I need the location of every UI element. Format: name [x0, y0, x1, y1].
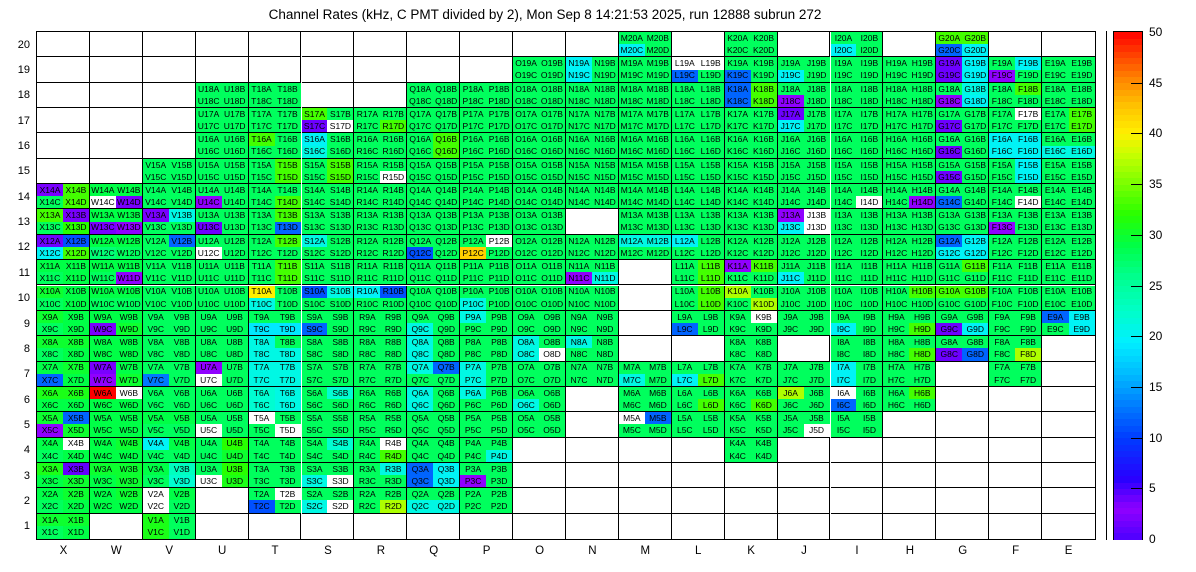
channel-quadrant: X9C	[37, 323, 63, 335]
channel-quadrant: Q5C	[407, 424, 433, 436]
cell-quadrant-row: T9AT9B	[249, 311, 301, 323]
cell-quadrant-row: O13AO13B	[513, 209, 565, 221]
cell-quadrant-row: Q14AQ14B	[407, 184, 459, 196]
channel-quadrant: T4A	[249, 438, 275, 450]
cell-quadrant-row: P13CP13D	[460, 222, 512, 234]
channel-quadrant: H11A	[883, 260, 909, 272]
cell-quadrant-row: P17AP17B	[460, 108, 512, 120]
cell-quadrant-row: V7CV7D	[143, 374, 195, 386]
channel-quadrant: U11B	[222, 260, 248, 272]
channel-quadrant: U8B	[222, 336, 248, 348]
heatmap-cell: N15AN15BN15CN15D	[566, 159, 619, 184]
channel-quadrant: Q2C	[407, 500, 433, 512]
channel-quadrant: T15A	[249, 159, 275, 171]
channel-quadrant: I8D	[856, 348, 882, 360]
cell-quadrant-row: F13AF13B	[989, 209, 1041, 221]
heatmap-cell: P14AP14BP14CP14D	[460, 184, 513, 209]
channel-quadrant: Q10B	[433, 286, 459, 298]
cell-quadrant-row: V15CV15D	[143, 171, 195, 183]
channel-quadrant: G15C	[936, 171, 962, 183]
channel-quadrant: M20C	[619, 44, 645, 56]
color-scale-tick-mark	[1131, 438, 1143, 439]
channel-quadrant: W4D	[116, 450, 142, 462]
channel-quadrant: K18A	[725, 83, 751, 95]
channel-quadrant: T12B	[275, 235, 301, 247]
cell-quadrant-row: E17CE17D	[1042, 120, 1095, 132]
heatmap-cell: V4AV4BV4CV4D	[143, 438, 196, 463]
channel-quadrant: U5B	[222, 412, 248, 424]
heatmap-cell-empty	[672, 336, 725, 361]
heatmap-cell: T15AT15BT15CT15D	[249, 159, 302, 184]
cell-quadrant-row: Q3CQ3D	[407, 475, 459, 487]
channel-quadrant: W3C	[90, 475, 116, 487]
cell-quadrant-row: H14AH14B	[883, 184, 935, 196]
cell-quadrant-row: P15AP15B	[460, 159, 512, 171]
channel-quadrant: S2B	[327, 488, 353, 500]
channel-quadrant: S16B	[327, 133, 353, 145]
cell-quadrant-row: R15CR15D	[354, 171, 406, 183]
channel-quadrant: W3B	[116, 463, 142, 475]
cell-quadrant-row: K17AK17B	[725, 108, 777, 120]
channel-quadrant: O18A	[513, 83, 539, 95]
channel-quadrant: N19C	[566, 70, 592, 82]
cell-quadrant-row: R13CR13D	[354, 222, 406, 234]
channel-quadrant: R9A	[354, 311, 380, 323]
channel-quadrant: T5A	[249, 412, 275, 424]
channel-quadrant: P18B	[486, 83, 512, 95]
channel-quadrant: L17B	[698, 108, 724, 120]
heatmap-cell-empty	[90, 133, 143, 158]
cell-quadrant-row: N9AN9B	[566, 311, 618, 323]
channel-quadrant: S10C	[302, 298, 328, 310]
cell-quadrant-row: J18CJ18D	[778, 95, 830, 107]
channel-quadrant: T10A	[249, 286, 275, 298]
channel-quadrant: S11B	[327, 260, 353, 272]
channel-quadrant: V10D	[169, 298, 195, 310]
heatmap-cell: M6AM6BM6CM6D	[619, 387, 672, 412]
heatmap-cell-empty	[672, 438, 725, 463]
channel-quadrant: S4A	[302, 438, 328, 450]
channel-quadrant: L12A	[672, 235, 698, 247]
cell-quadrant-row: F18AF18B	[989, 83, 1041, 95]
cell-quadrant-row: M16AM16B	[619, 133, 671, 145]
y-axis-tick: 17	[2, 115, 30, 127]
cell-quadrant-row: G8CG8D	[936, 348, 988, 360]
cell-quadrant-row: V13CV13D	[143, 222, 195, 234]
heatmap-cell: S2AS2BS2CS2D	[302, 488, 355, 513]
heatmap-cell: E16AE16BE16CE16D	[1042, 133, 1095, 158]
cell-quadrant-row: X4CX4D	[37, 450, 89, 462]
channel-quadrant: M20B	[645, 32, 671, 44]
heatmap-cell-empty	[513, 32, 566, 57]
channel-quadrant: F16A	[989, 133, 1015, 145]
heatmap-cell: V5AV5BV5CV5D	[143, 412, 196, 437]
channel-quadrant: S15C	[302, 171, 328, 183]
channel-quadrant: L11B	[698, 260, 724, 272]
cell-quadrant-row: J10AJ10B	[778, 286, 830, 298]
channel-quadrant: J12D	[804, 247, 830, 259]
heatmap-cell: Q17AQ17BQ17CQ17D	[407, 108, 460, 133]
cell-quadrant-row: R3AR3B	[354, 463, 406, 475]
channel-quadrant: O19C	[513, 70, 539, 82]
cell-quadrant-row: H18CH18D	[883, 95, 935, 107]
channel-quadrant: P8B	[486, 336, 512, 348]
channel-quadrant: T6A	[249, 387, 275, 399]
channel-quadrant: K9B	[751, 311, 777, 323]
heatmap-cell: V11AV11BV11CV11D	[143, 260, 196, 285]
channel-quadrant: T8B	[275, 336, 301, 348]
heatmap-cell: L7AL7BL7CL7D	[672, 362, 725, 387]
cell-quadrant-row: H19CH19D	[883, 70, 935, 82]
channel-quadrant: Q3D	[433, 475, 459, 487]
channel-quadrant: J10D	[804, 298, 830, 310]
channel-quadrant: G11A	[936, 260, 962, 272]
channel-quadrant: H18D	[909, 95, 935, 107]
channel-quadrant: V10C	[143, 298, 169, 310]
heatmap-cell: X8AX8BX8CX8D	[37, 336, 90, 361]
channel-quadrant: G18B	[962, 83, 988, 95]
channel-quadrant: R4D	[380, 450, 406, 462]
channel-quadrant: U12B	[222, 235, 248, 247]
channel-quadrant: V10A	[143, 286, 169, 298]
channel-quadrant: P9A	[460, 311, 486, 323]
channel-quadrant: T18C	[249, 95, 275, 107]
cell-quadrant-row: W12CW12D	[90, 247, 142, 259]
channel-quadrant: N17C	[566, 120, 592, 132]
cell-quadrant-row: M20AM20B	[619, 32, 671, 44]
channel-quadrant: O14C	[513, 196, 539, 208]
cell-quadrant-row: Q15CQ15D	[407, 171, 459, 183]
channel-quadrant: V1D	[169, 526, 195, 539]
channel-quadrant: K17D	[751, 120, 777, 132]
cell-quadrant-row: N7AN7B	[566, 362, 618, 374]
cell-quadrant-row: G15AG15B	[936, 159, 988, 171]
channel-quadrant: I5B	[856, 412, 882, 424]
cell-quadrant-row: T10CT10D	[249, 298, 301, 310]
cell-quadrant-row: N12CN12D	[566, 247, 618, 259]
cell-quadrant-row: G17CG17D	[936, 120, 988, 132]
cell-quadrant-row: I5AI5B	[831, 412, 883, 424]
channel-quadrant: R2B	[380, 488, 406, 500]
channel-quadrant: I9B	[856, 311, 882, 323]
cell-quadrant-row: W4AW4B	[90, 438, 142, 450]
cell-quadrant-row: N18AN18B	[566, 83, 618, 95]
channel-quadrant: O18D	[539, 95, 565, 107]
channel-quadrant: E9B	[1069, 311, 1095, 323]
heatmap-cell: T5AT5BT5CT5D	[249, 412, 302, 437]
channel-quadrant: T14B	[275, 184, 301, 196]
channel-quadrant: H6A	[883, 387, 909, 399]
channel-quadrant: J5B	[804, 412, 830, 424]
channel-quadrant: H14C	[883, 196, 909, 208]
cell-quadrant-row: N12AN12B	[566, 235, 618, 247]
heatmap-cell-empty	[619, 463, 672, 488]
heatmap-cell-empty	[196, 57, 249, 82]
heatmap-cell: R14AR14BR14CR14D	[354, 184, 407, 209]
heatmap-cell: K20AK20BK20CK20D	[725, 32, 778, 57]
channel-quadrant: R10A	[354, 286, 380, 298]
channel-quadrant: Q5D	[433, 424, 459, 436]
channel-quadrant: O9C	[513, 323, 539, 335]
cell-quadrant-row: W9CW9D	[90, 323, 142, 335]
cell-quadrant-row: X7CX7D	[37, 374, 89, 386]
channel-quadrant: J9B	[804, 311, 830, 323]
channel-quadrant: O12D	[539, 247, 565, 259]
heatmap-cell-empty	[566, 514, 619, 539]
channel-quadrant: E13C	[1042, 222, 1068, 234]
channel-quadrant: F8D	[1015, 348, 1041, 360]
cell-quadrant-row: E12AE12B	[1042, 235, 1095, 247]
cell-quadrant-row: Q7AQ7B	[407, 362, 459, 374]
cell-quadrant-row: S17CS17D	[302, 120, 354, 132]
heatmap-cell: N17AN17BN17CN17D	[566, 108, 619, 133]
cell-quadrant-row: R7AR7B	[354, 362, 406, 374]
channel-quadrant: R11B	[380, 260, 406, 272]
cell-quadrant-row: O5AO5B	[513, 412, 565, 424]
channel-quadrant: P15A	[460, 159, 486, 171]
channel-quadrant: H19C	[883, 70, 909, 82]
channel-quadrant: N16C	[566, 146, 592, 158]
channel-quadrant: P9D	[486, 323, 512, 335]
channel-quadrant: P4B	[486, 438, 512, 450]
channel-quadrant: H10A	[883, 286, 909, 298]
heatmap-cell: L18AL18BL18CL18D	[672, 83, 725, 108]
cell-quadrant-row: X12AX12B	[37, 235, 89, 247]
color-scale-ticks: 05101520253035404550	[1113, 31, 1193, 540]
cell-quadrant-row: E11CE11D	[1042, 272, 1095, 284]
channel-quadrant: E18D	[1069, 95, 1095, 107]
channel-quadrant: G12B	[962, 235, 988, 247]
channel-quadrant: G12D	[962, 247, 988, 259]
channel-quadrant: P15B	[486, 159, 512, 171]
channel-quadrant: Q4B	[433, 438, 459, 450]
cell-quadrant-row: E14AE14B	[1042, 184, 1095, 196]
channel-quadrant: Q15D	[433, 171, 459, 183]
cell-quadrant-row: U12AU12B	[196, 235, 248, 247]
cell-quadrant-row: W9AW9B	[90, 311, 142, 323]
heatmap-cell-empty	[37, 57, 90, 82]
channel-quadrant: I20B	[856, 32, 882, 44]
cell-quadrant-row: X11AX11B	[37, 260, 89, 272]
heatmap-cell: T18AT18BT18CT18D	[249, 83, 302, 108]
channel-quadrant: I10A	[831, 286, 857, 298]
channel-quadrant: E17C	[1042, 120, 1068, 132]
channel-quadrant: E16B	[1069, 133, 1095, 145]
channel-quadrant: G19C	[936, 70, 962, 82]
cell-quadrant-row: M17AM17B	[619, 108, 671, 120]
channel-quadrant: J17C	[778, 120, 804, 132]
cell-quadrant-row: L5AL5B	[672, 412, 724, 424]
channel-quadrant: W6C	[90, 399, 116, 411]
channel-quadrant: O10B	[539, 286, 565, 298]
cell-quadrant-row: V4AV4B	[143, 438, 195, 450]
channel-quadrant: K9D	[751, 323, 777, 335]
channel-quadrant: I9D	[856, 323, 882, 335]
cell-quadrant-row: N14CN14D	[566, 196, 618, 208]
cell-quadrant-row: R2CR2D	[354, 500, 406, 512]
cell-quadrant-row: F8CF8D	[989, 348, 1041, 360]
heatmap-cell-empty	[672, 32, 725, 57]
cell-quadrant-row: N10CN10D	[566, 298, 618, 310]
channel-quadrant: S6B	[327, 387, 353, 399]
cell-quadrant-row: H15CH15D	[883, 171, 935, 183]
channel-quadrant: X13D	[63, 222, 89, 234]
cell-quadrant-row: H9AH9B	[883, 311, 935, 323]
channel-quadrant: T9C	[249, 323, 275, 335]
cell-quadrant-row: O11AO11B	[513, 260, 565, 272]
y-axis-tick: 6	[2, 394, 30, 406]
heatmap-cell: W11AW11BW11CW11D	[90, 260, 143, 285]
heatmap-cell-empty	[354, 57, 407, 82]
cell-quadrant-row: F17AF17B	[989, 108, 1041, 120]
cell-quadrant-row: P18AP18B	[460, 83, 512, 95]
cell-quadrant-row: Q11AQ11B	[407, 260, 459, 272]
channel-quadrant: J17A	[778, 108, 804, 120]
x-axis-tick: S	[324, 545, 332, 557]
channel-quadrant: H17C	[883, 120, 909, 132]
heatmap-cell: P13AP13BP13CP13D	[460, 209, 513, 234]
channel-quadrant: U17A	[196, 108, 222, 120]
cell-quadrant-row: J7AJ7B	[778, 362, 830, 374]
channel-quadrant: N7A	[566, 362, 592, 374]
channel-quadrant: F18C	[989, 95, 1015, 107]
channel-quadrant: R15B	[380, 159, 406, 171]
channel-quadrant: V14A	[143, 184, 169, 196]
y-axis-tick: 8	[2, 343, 30, 355]
heatmap-cell-empty	[936, 387, 989, 412]
channel-quadrant: G11D	[962, 272, 988, 284]
channel-quadrant: N16D	[592, 146, 618, 158]
channel-quadrant: W10D	[116, 298, 142, 310]
heatmap-cell: S6AS6BS6CS6D	[302, 387, 355, 412]
channel-quadrant: I15A	[831, 159, 857, 171]
channel-quadrant: G13A	[936, 209, 962, 221]
heatmap-cell: P4AP4BP4CP4D	[460, 438, 513, 463]
channel-quadrant: O6D	[539, 399, 565, 411]
heatmap-cell: V10AV10BV10CV10D	[143, 286, 196, 311]
channel-quadrant: X10D	[63, 298, 89, 310]
channel-quadrant: K17B	[751, 108, 777, 120]
channel-quadrant: L17D	[698, 120, 724, 132]
heatmap-cell: E14AE14BE14CE14D	[1042, 184, 1095, 209]
cell-quadrant-row: H16AH16B	[883, 133, 935, 145]
channel-quadrant: O12B	[539, 235, 565, 247]
channel-quadrant: P15D	[486, 171, 512, 183]
channel-quadrant: K18D	[751, 95, 777, 107]
heatmap-cell-empty	[354, 514, 407, 539]
channel-quadrant: U13C	[196, 222, 222, 234]
cell-quadrant-row: Q10AQ10B	[407, 286, 459, 298]
channel-quadrant: I10C	[831, 298, 857, 310]
heatmap-cell-empty	[672, 463, 725, 488]
heatmap-cell-empty	[37, 133, 90, 158]
heatmap-cell: U9AU9BU9CU9D	[196, 311, 249, 336]
heatmap-cell: T13AT13BT13CT13D	[249, 209, 302, 234]
heatmap-cell: W2AW2BW2CW2D	[90, 488, 143, 513]
channel-quadrant: N7D	[592, 374, 618, 386]
channel-quadrant: T16A	[249, 133, 275, 145]
cell-quadrant-row: H19AH19B	[883, 57, 935, 69]
cell-quadrant-row: I10AI10B	[831, 286, 883, 298]
channel-quadrant: S8A	[302, 336, 328, 348]
channel-quadrant: M18A	[619, 83, 645, 95]
channel-quadrant: Q13C	[407, 222, 433, 234]
channel-quadrant: P6D	[486, 399, 512, 411]
cell-quadrant-row: L16CL16D	[672, 146, 724, 158]
channel-quadrant: X8A	[37, 336, 63, 348]
heatmap-cell: S5AS5BS5CS5D	[302, 412, 355, 437]
channel-quadrant: T7C	[249, 374, 275, 386]
channel-quadrant: S17A	[302, 108, 328, 120]
channel-quadrant: J10A	[778, 286, 804, 298]
color-scale-tick-mark	[1131, 387, 1143, 388]
channel-quadrant: W5B	[116, 412, 142, 424]
heatmap-cell: N12AN12BN12CN12D	[566, 235, 619, 260]
x-axis-tick: Q	[429, 545, 438, 557]
channel-quadrant: X10A	[37, 286, 63, 298]
cell-quadrant-row: K5CK5D	[725, 424, 777, 436]
heatmap-cell: H10AH10BH10CH10D	[883, 286, 936, 311]
channel-quadrant: W5C	[90, 424, 116, 436]
channel-quadrant: N15D	[592, 171, 618, 183]
channel-quadrant: L16D	[698, 146, 724, 158]
heatmap-cell: J6AJ6BJ6CJ6D	[778, 387, 831, 412]
channel-quadrant: R6A	[354, 387, 380, 399]
cell-quadrant-row: L13CL13D	[672, 222, 724, 234]
channel-quadrant: O10C	[513, 298, 539, 310]
channel-quadrant: J5D	[804, 424, 830, 436]
channel-quadrant: G14D	[962, 196, 988, 208]
channel-quadrant: I5C	[831, 424, 857, 436]
channel-quadrant: M16C	[619, 146, 645, 158]
cell-quadrant-row: I20AI20B	[831, 32, 883, 44]
channel-quadrant: W13C	[90, 222, 116, 234]
channel-quadrant: Q8D	[433, 348, 459, 360]
cell-quadrant-row: I15CI15D	[831, 171, 883, 183]
channel-quadrant: I7B	[856, 362, 882, 374]
cell-quadrant-row: Q13AQ13B	[407, 209, 459, 221]
channel-quadrant: T13A	[249, 209, 275, 221]
channel-quadrant: P5C	[460, 424, 486, 436]
channel-quadrant: R9B	[380, 311, 406, 323]
channel-quadrant: N11D	[592, 272, 618, 284]
channel-quadrant: I6B	[856, 387, 882, 399]
channel-quadrant: S7B	[327, 362, 353, 374]
heatmap-cell-empty	[249, 514, 302, 539]
cell-quadrant-row: R16AR16B	[354, 133, 406, 145]
channel-quadrant: U18B	[222, 83, 248, 95]
channel-quadrant: T7D	[275, 374, 301, 386]
heatmap-cell: H13AH13BH13CH13D	[883, 209, 936, 234]
cell-quadrant-row: H8AH8B	[883, 336, 935, 348]
heatmap-cell-empty	[778, 463, 831, 488]
cell-quadrant-row: L6CL6D	[672, 399, 724, 411]
heatmap-cell: F11AF11BF11CF11D	[989, 260, 1042, 285]
cell-quadrant-row: R8CR8D	[354, 348, 406, 360]
cell-quadrant-row: U5CU5D	[196, 424, 248, 436]
channel-quadrant: J17B	[804, 108, 830, 120]
cell-quadrant-row: P10CP10D	[460, 298, 512, 310]
cell-quadrant-row: I11CI11D	[831, 272, 883, 284]
channel-quadrant: J6A	[778, 387, 804, 399]
cell-quadrant-row: J19CJ19D	[778, 70, 830, 82]
channel-quadrant: R12D	[380, 247, 406, 259]
cell-quadrant-row: T18CT18D	[249, 95, 301, 107]
channel-quadrant: V11C	[143, 272, 169, 284]
cell-quadrant-row: J17CJ17D	[778, 120, 830, 132]
channel-quadrant: P5D	[486, 424, 512, 436]
cell-quadrant-row: X6CX6D	[37, 399, 89, 411]
